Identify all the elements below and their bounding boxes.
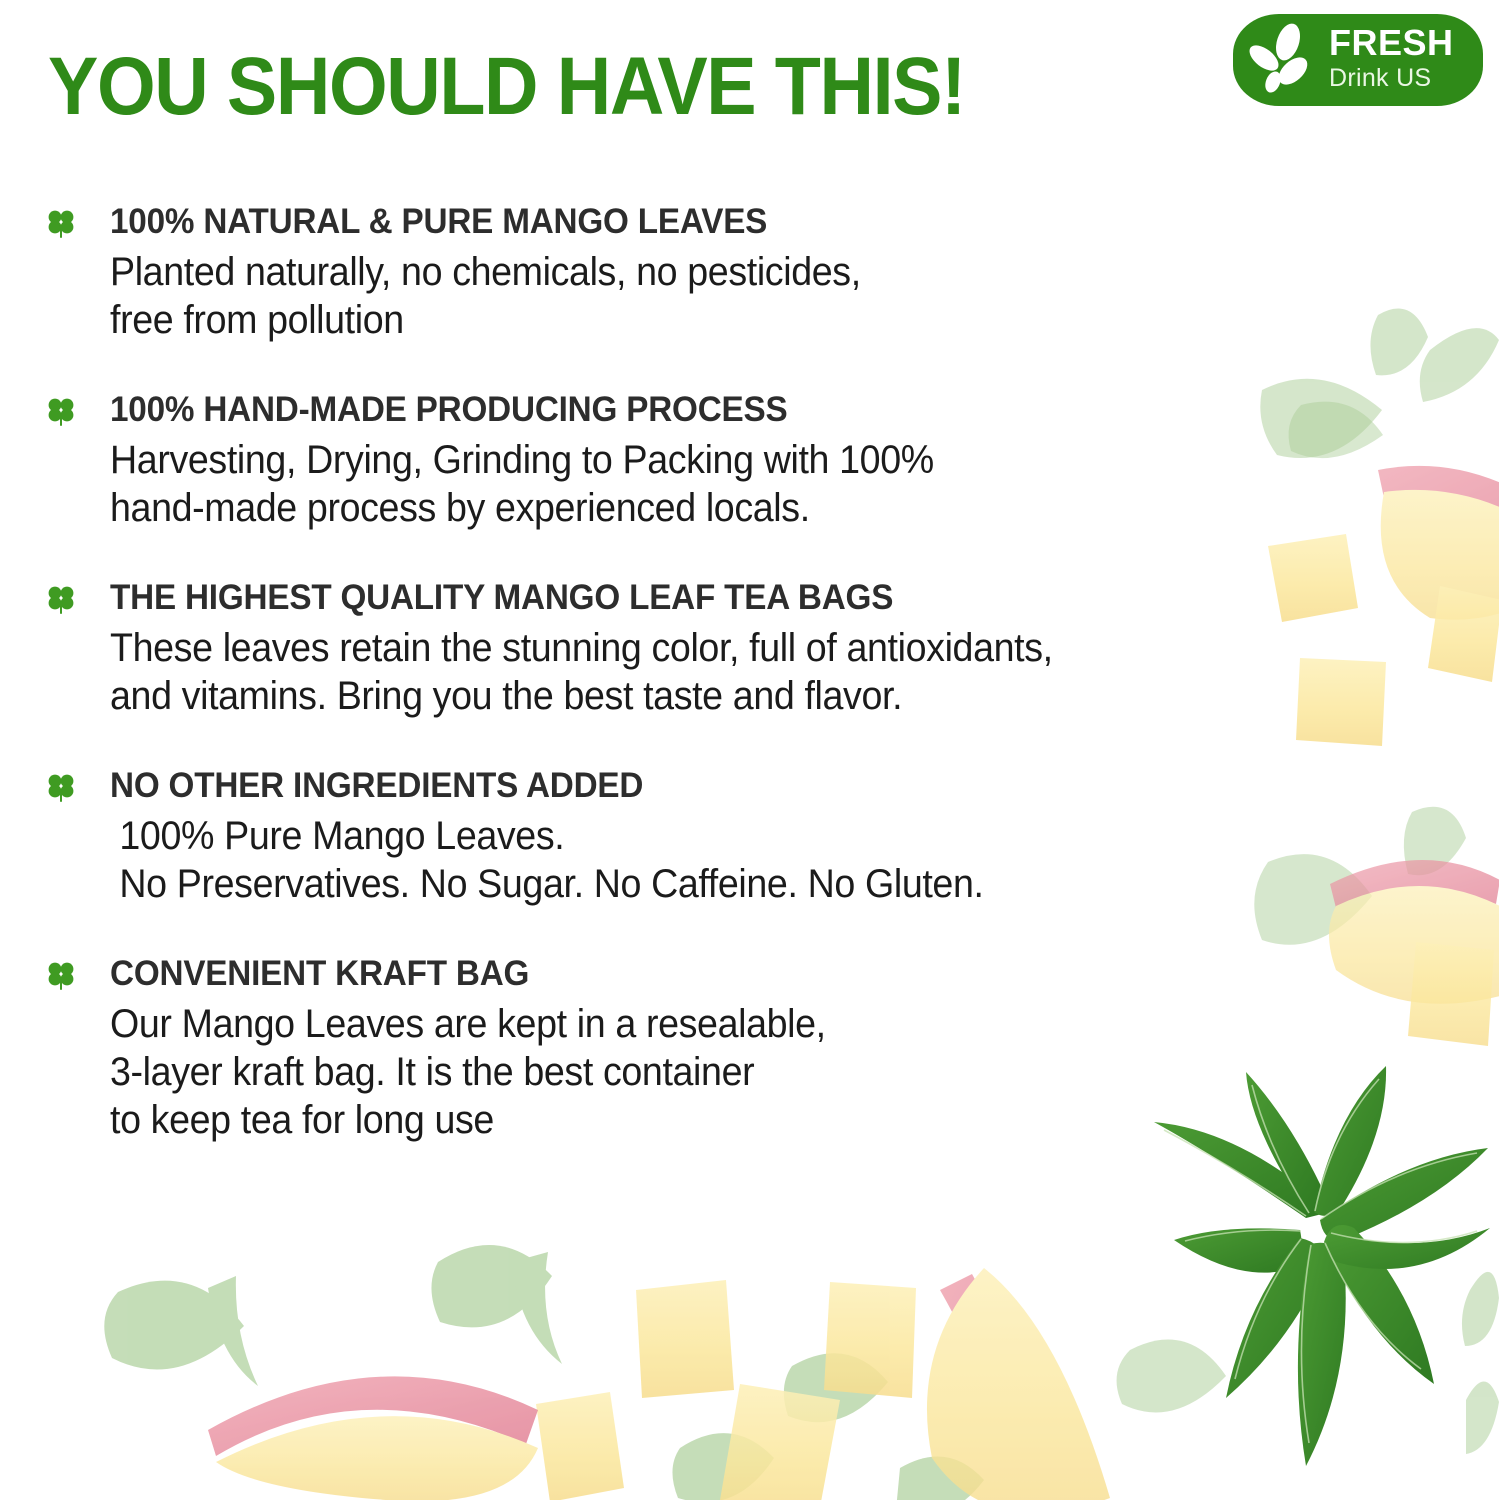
feature-heading: 100% HAND-MADE PRODUCING PROCESS	[110, 388, 1355, 432]
brand-name-primary: FRESH	[1329, 25, 1475, 61]
mango-slice-icon	[208, 1376, 538, 1500]
mango-cube-icon	[536, 1280, 916, 1500]
feature-item: CONVENIENT KRAFT BAG Our Mango Leaves ar…	[0, 952, 1420, 1144]
brand-logo: FRESH Drink US	[1233, 14, 1483, 106]
feature-body-line: Planted naturally, no chemicals, no pest…	[110, 248, 1341, 296]
feature-body-line: to keep tea for long use	[110, 1096, 1341, 1144]
feature-body: 100% Pure Mango Leaves. No Preservatives…	[110, 812, 1341, 908]
feature-heading: NO OTHER INGREDIENTS ADDED	[110, 764, 1355, 808]
feature-body-line: hand-made process by experienced locals.	[110, 484, 1341, 532]
feature-body-line: 3-layer kraft bag. It is the best contai…	[110, 1048, 1341, 1096]
feature-body-line: and vitamins. Bring you the best taste a…	[110, 672, 1341, 720]
feature-body-line: These leaves retain the stunning color, …	[110, 624, 1341, 672]
feature-body-line: 100% Pure Mango Leaves.	[119, 812, 1341, 860]
clover-bullet-icon	[46, 396, 76, 428]
faded-leaf-icon	[1117, 1272, 1499, 1454]
mango-cube-icon	[1408, 942, 1494, 1046]
feature-heading: 100% NATURAL & PURE MANGO LEAVES	[110, 200, 1355, 244]
feature-body: Our Mango Leaves are kept in a resealabl…	[110, 1000, 1341, 1144]
feature-body-line: free from pollution	[110, 296, 1341, 344]
mango-slice-icon	[927, 1268, 1110, 1500]
feature-body: Planted naturally, no chemicals, no pest…	[110, 248, 1341, 344]
infographic-page: YOU SHOULD HAVE THIS! FRESH Drink US	[0, 0, 1499, 1500]
feature-body: Harvesting, Drying, Grinding to Packing …	[110, 436, 1341, 532]
brand-logo-text: FRESH Drink US	[1329, 25, 1475, 92]
faded-leaf-icon	[104, 1245, 984, 1500]
feature-item: NO OTHER INGREDIENTS ADDED 100% Pure Man…	[0, 764, 1420, 908]
feature-body-line: Our Mango Leaves are kept in a resealabl…	[110, 1000, 1341, 1048]
feature-item: THE HIGHEST QUALITY MANGO LEAF TEA BAGS …	[0, 576, 1420, 720]
feature-body: These leaves retain the stunning color, …	[110, 624, 1341, 720]
brand-name-secondary: Drink US	[1329, 64, 1475, 92]
feature-body-line: No Preservatives. No Sugar. No Caffeine.…	[119, 860, 1341, 908]
clover-bullet-icon	[46, 208, 76, 240]
page-title: YOU SHOULD HAVE THIS!	[48, 44, 965, 130]
feature-heading: CONVENIENT KRAFT BAG	[110, 952, 1355, 996]
feature-item: 100% NATURAL & PURE MANGO LEAVES Planted…	[0, 200, 1420, 344]
clover-bullet-icon	[46, 584, 76, 616]
feature-list: 100% NATURAL & PURE MANGO LEAVES Planted…	[0, 200, 1420, 1188]
feature-heading: THE HIGHEST QUALITY MANGO LEAF TEA BAGS	[110, 576, 1355, 620]
feature-body-line: Harvesting, Drying, Grinding to Packing …	[110, 436, 1341, 484]
clover-bullet-icon	[46, 960, 76, 992]
feature-item: 100% HAND-MADE PRODUCING PROCESS Harvest…	[0, 388, 1420, 532]
leaf-petals-icon	[1247, 22, 1323, 98]
clover-bullet-icon	[46, 772, 76, 804]
